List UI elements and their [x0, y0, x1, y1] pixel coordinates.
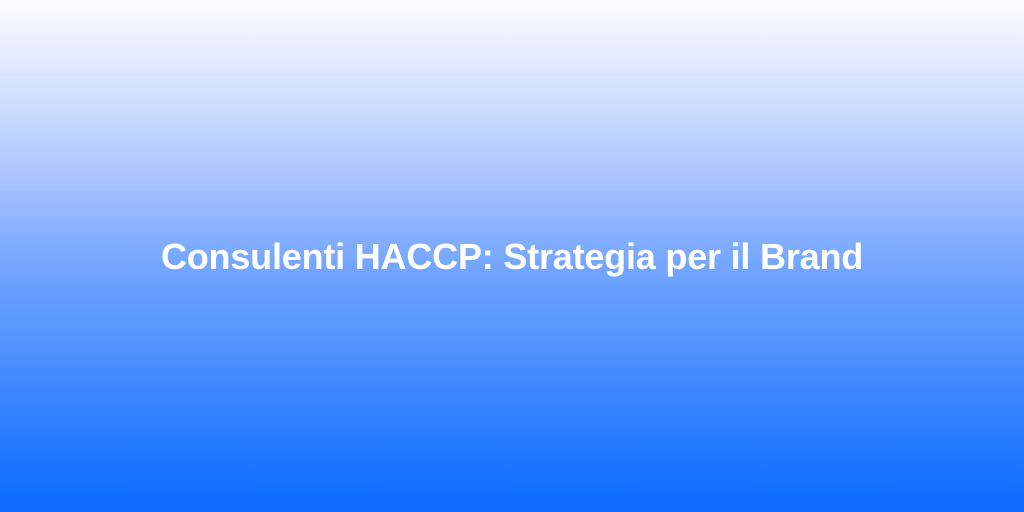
page-title: Consulenti HACCP: Strategia per il Brand [161, 234, 863, 279]
hero-banner: Consulenti HACCP: Strategia per il Brand [0, 0, 1024, 512]
banner-content: Consulenti HACCP: Strategia per il Brand [0, 234, 1024, 279]
